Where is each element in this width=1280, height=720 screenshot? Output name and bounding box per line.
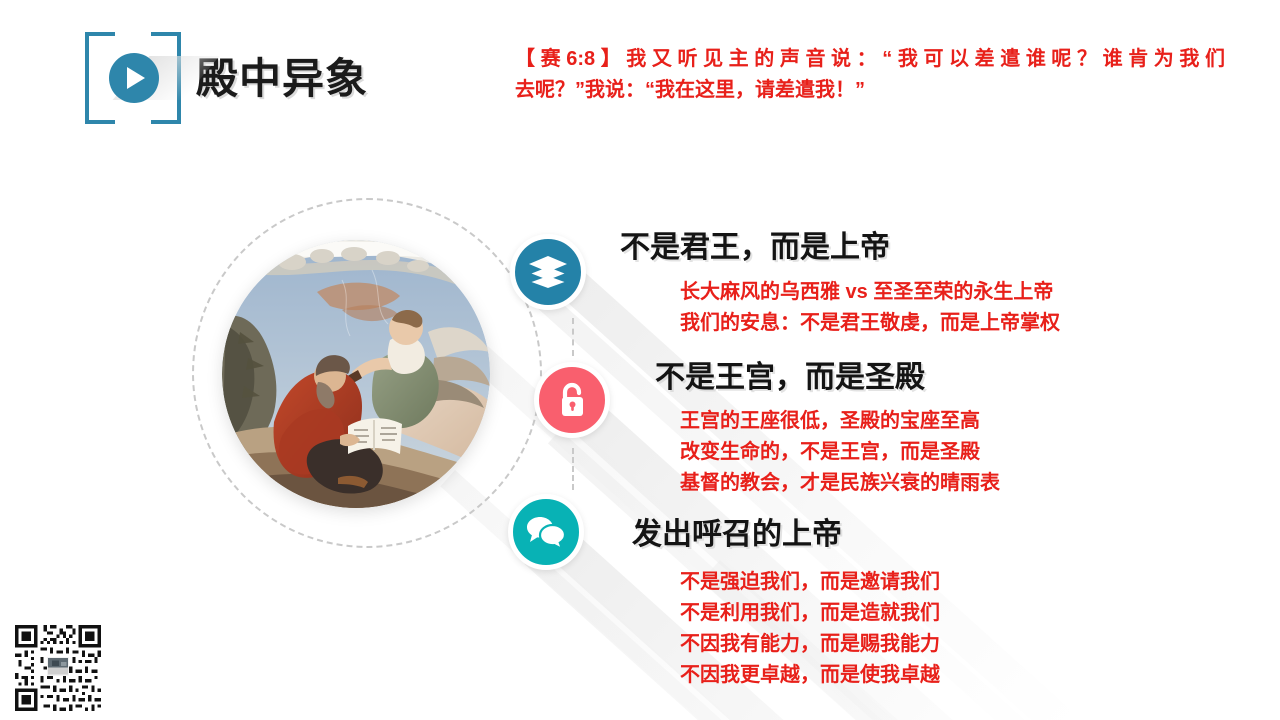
unlocked-padlock-icon[interactable] — [534, 362, 610, 438]
block-2-lines: 王宫的王座很低，圣殿的宝座至高 改变生命的，不是王宫，而是圣殿 基督的教会，才是… — [680, 406, 1000, 499]
block-3-line-1: 不是强迫我们，而是邀请我们 — [680, 567, 940, 598]
block-2-line-2: 改变生命的，不是王宫，而是圣殿 — [680, 437, 1000, 468]
verse-line-1: 【赛6:8】我又听见主的声音说：“我可以差遣谁呢？谁肯为我们 — [515, 44, 1225, 75]
slide-header: 殿中异象 【赛6:8】我又听见主的声音说：“我可以差遣谁呢？谁肯为我们 去呢？”… — [0, 0, 1280, 140]
scripture-verse: 【赛6:8】我又听见主的声音说：“我可以差遣谁呢？谁肯为我们 去呢？”我说：“我… — [515, 44, 1225, 106]
block-1-line-1: 长大麻风的乌西雅 vs 至圣至荣的永生上帝 — [680, 277, 1060, 308]
illustration-image — [222, 240, 490, 508]
block-1-line-2: 我们的安息：不是君王敬虔，而是上帝掌权 — [680, 308, 1060, 339]
brand-logo — [85, 32, 181, 124]
connector-2-3 — [572, 448, 574, 490]
block-1-heading: 不是君王，而是上帝 — [620, 222, 890, 266]
block-1-lines: 长大麻风的乌西雅 vs 至圣至荣的永生上帝 我们的安息：不是君王敬虔，而是上帝掌… — [680, 277, 1060, 339]
speech-bubbles-icon[interactable] — [508, 494, 584, 570]
block-3-line-2: 不是利用我们，而是造就我们 — [680, 598, 940, 629]
qr-code[interactable] — [12, 622, 104, 714]
block-2-line-3: 基督的教会，才是民族兴衰的晴雨表 — [680, 468, 1000, 499]
verse-line-2: 去呢？”我说：“我在这里，请差遣我！” — [515, 75, 1225, 106]
play-button-icon — [109, 53, 159, 103]
block-3-line-4: 不因我更卓越，而是使我卓越 — [680, 660, 940, 691]
block-2-heading: 不是王宫，而是圣殿 — [655, 352, 925, 396]
layers-stack-icon[interactable] — [510, 234, 586, 310]
block-2-line-1: 王宫的王座很低，圣殿的宝座至高 — [680, 406, 1000, 437]
block-3-heading: 发出呼召的上帝 — [632, 509, 842, 553]
block-3-line-3: 不因我有能力，而是赐我能力 — [680, 629, 940, 660]
connector-1-2 — [572, 318, 574, 356]
page-title: 殿中异象 — [196, 45, 368, 106]
block-3-lines: 不是强迫我们，而是邀请我们 不是利用我们，而是造就我们 不因我有能力，而是赐我能… — [680, 567, 940, 691]
